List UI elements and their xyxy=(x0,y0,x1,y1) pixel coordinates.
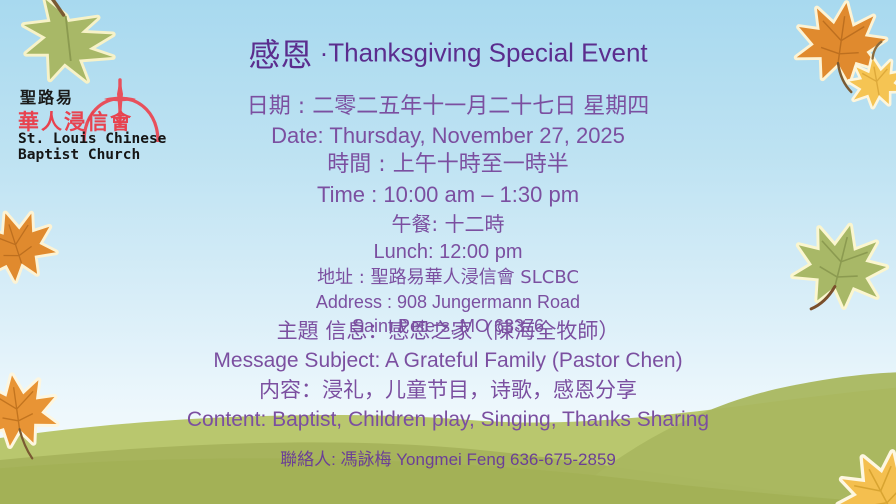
slide-title-english: ·Thanksgiving Special Event xyxy=(312,38,647,68)
message-subject-chinese: 主題 信息：感恩之家（陳海全牧師） xyxy=(0,316,896,346)
date-english: Date: Thursday, November 27, 2025 xyxy=(0,122,896,150)
thanksgiving-event-slide: 聖路易 華人浸信會 St. Louis Chinese Baptist Chur… xyxy=(0,0,896,504)
contact-line: 聯絡人: 馮詠梅 Yongmei Feng 636-675-2859 xyxy=(0,448,896,472)
lunch-chinese: 午餐: 十二時 xyxy=(0,210,896,238)
slide-title: 感恩 ·Thanksgiving Special Event xyxy=(0,30,896,76)
time-chinese: 時間 : 上午十時至一時半 xyxy=(0,150,896,180)
address-english-street: Address : 908 Jungermann Road xyxy=(0,290,896,314)
slide-title-chinese: 感恩 xyxy=(248,36,312,74)
time-english: Time : 10:00 am – 1:30 pm xyxy=(0,180,896,210)
message-subject-english: Message Subject: A Grateful Family (Past… xyxy=(0,346,896,375)
message-content-block: 主題 信息：感恩之家（陳海全牧師） Message Subject: A Gra… xyxy=(0,316,896,434)
content-english: Content: Baptist, Children play, Singing… xyxy=(0,405,896,434)
event-details-block: 日期 : 二零二五年十一月二十七日 星期四 Date: Thursday, No… xyxy=(0,92,896,338)
address-chinese: 地址 : 聖路易華人浸信會 SLCBC xyxy=(0,266,896,290)
content-chinese: 内容：浸礼，儿童节目，诗歌，感恩分享 xyxy=(0,375,896,405)
date-chinese: 日期 : 二零二五年十一月二十七日 星期四 xyxy=(0,92,896,122)
lunch-english: Lunch: 12:00 pm xyxy=(0,238,896,266)
